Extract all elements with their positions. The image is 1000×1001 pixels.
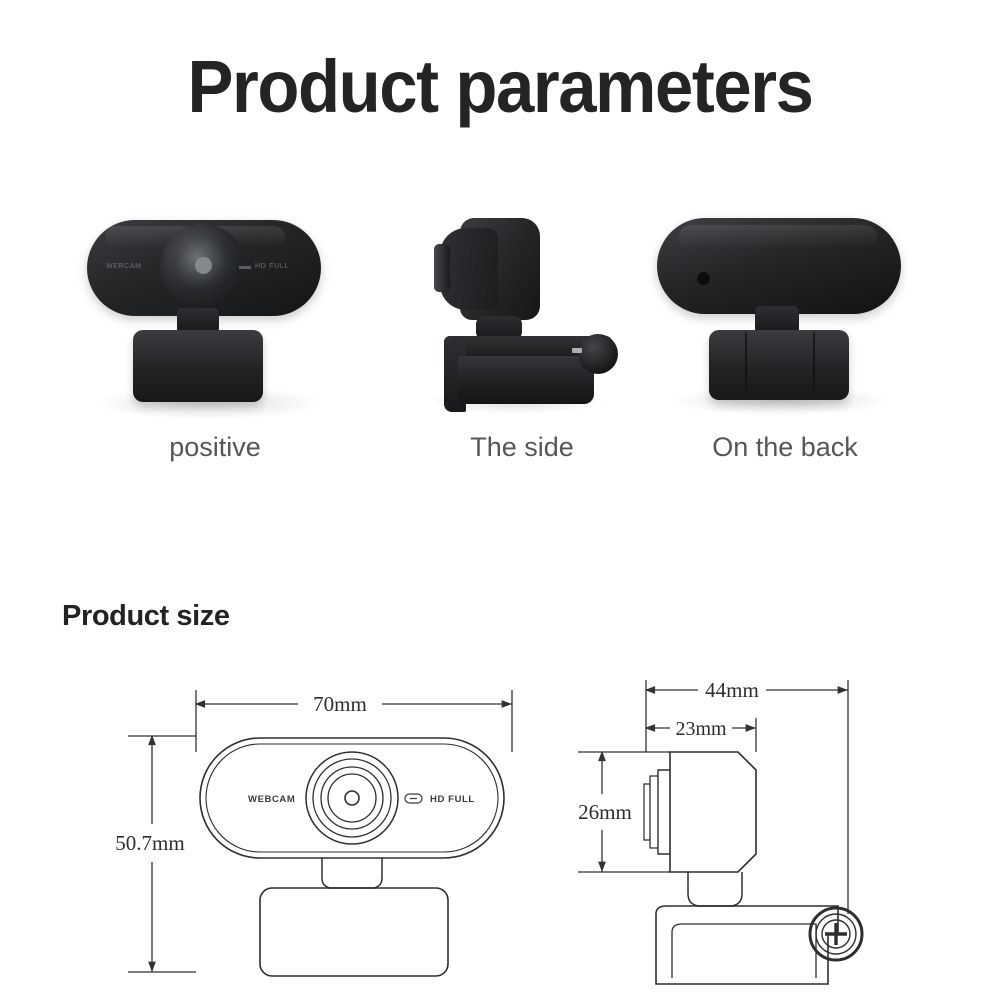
dimension-body-depth-label: 23mm [675,718,727,740]
microphone-hole [697,272,710,285]
dimension-body-height-label: 26mm [578,800,632,824]
front-dimension-drawing: 70mm 50.7mm WEBCAM HD FULL [100,672,540,997]
page-title: Product parameters [35,44,965,129]
caption-front: positive [65,432,365,463]
dimension-width-label: 70mm [313,692,367,716]
dimension-overall-depth-label: 44mm [705,678,759,702]
product-view-back: On the back [635,210,935,500]
product-view-side: The side [372,210,672,500]
section-title-product-size: Product size [62,600,230,633]
drawing-right-label: HD FULL [430,794,475,805]
front-left-label: WEBCAM [106,263,142,270]
product-view-front: WEBCAM HD FULL positive [65,210,365,500]
front-right-label: HD FULL [255,263,289,270]
product-views-row: WEBCAM HD FULL positive The [0,210,1000,500]
caption-back: On the back [635,432,935,463]
caption-side: The side [372,432,672,463]
dimension-height-label: 50.7mm [115,831,184,855]
side-dimension-drawing: 44mm 23mm 26mm [560,666,960,1001]
drawing-left-label: WEBCAM [248,794,295,805]
webcam-front-icon: WEBCAM HD FULL [65,210,365,425]
webcam-side-icon [372,210,672,425]
webcam-back-icon [635,210,935,425]
